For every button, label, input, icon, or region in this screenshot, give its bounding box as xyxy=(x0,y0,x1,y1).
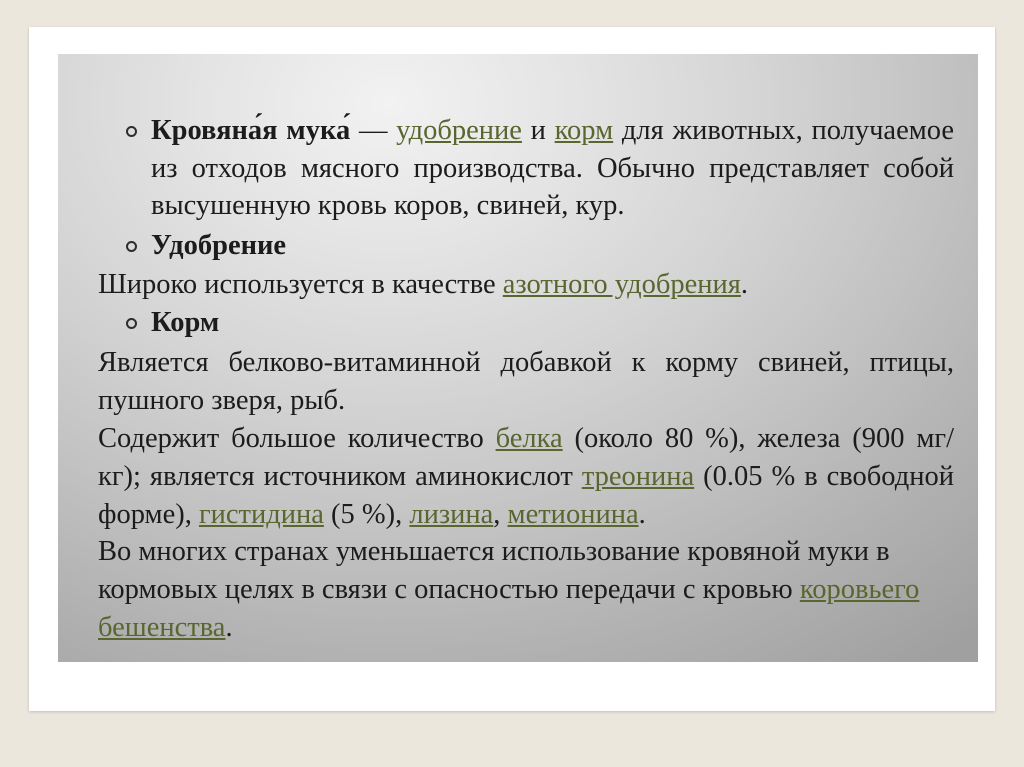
bullet-circle-icon xyxy=(126,318,137,329)
heading-fertilizer: Удобрение xyxy=(151,227,954,265)
link-nitrogen-fertilizer[interactable]: азотного удобрения xyxy=(503,269,741,300)
feed-paragraph-2: Содержит большое количество белка (около… xyxy=(98,420,954,534)
content-body: Кровяна́я мука́ — удобрение и корм для ж… xyxy=(98,112,954,647)
feed-p2-part6: . xyxy=(639,499,646,530)
fertilizer-heading-row: Удобрение xyxy=(98,227,954,265)
feed-p2-part1: Содержит большое количество xyxy=(98,423,496,454)
intro-paragraph: Кровяна́я мука́ — удобрение и корм для ж… xyxy=(151,112,954,225)
link-fertilizer[interactable]: удобрение xyxy=(396,115,522,146)
feed-p2-part4: (5 %), xyxy=(324,499,409,530)
intro-bullet-row: Кровяна́я мука́ — удобрение и корм для ж… xyxy=(98,112,954,225)
intro-dash: — xyxy=(350,115,396,146)
feed-heading-row: Корм xyxy=(98,304,954,342)
feed-p3-part2: . xyxy=(225,612,232,643)
link-histidine[interactable]: гистидина xyxy=(199,499,324,530)
feed-paragraph-3: Во многих странах уменьшается использова… xyxy=(98,533,954,647)
bullet-circle-icon xyxy=(126,126,137,137)
link-methionine[interactable]: метионина xyxy=(508,499,639,530)
bullet-circle-icon xyxy=(126,241,137,252)
content-panel: Кровяна́я мука́ — удобрение и корм для ж… xyxy=(58,54,978,662)
feed-paragraph-1: Является белково-витаминной добавкой к к… xyxy=(98,344,954,420)
link-threonine[interactable]: треонина xyxy=(582,461,694,492)
term-blood-meal: Кровяна́я мука́ xyxy=(151,115,350,146)
link-lysine[interactable]: лизина xyxy=(409,499,493,530)
feed-p2-part5: , xyxy=(493,499,507,530)
heading-feed: Корм xyxy=(151,304,954,342)
link-feed[interactable]: корм xyxy=(555,115,614,146)
slide-background: Кровяна́я мука́ — удобрение и корм для ж… xyxy=(0,0,1024,767)
intro-and: и xyxy=(522,115,555,146)
link-protein[interactable]: белка xyxy=(496,423,563,454)
fertilizer-paragraph: Широко используется в качестве азотного … xyxy=(98,266,954,304)
fertilizer-text-before: Широко используется в качестве xyxy=(98,269,503,300)
feed-p3-part1: Во многих странах уменьшается использова… xyxy=(98,536,890,605)
fertilizer-text-after: . xyxy=(741,269,748,300)
slide-card: Кровяна́я мука́ — удобрение и корм для ж… xyxy=(29,27,995,711)
